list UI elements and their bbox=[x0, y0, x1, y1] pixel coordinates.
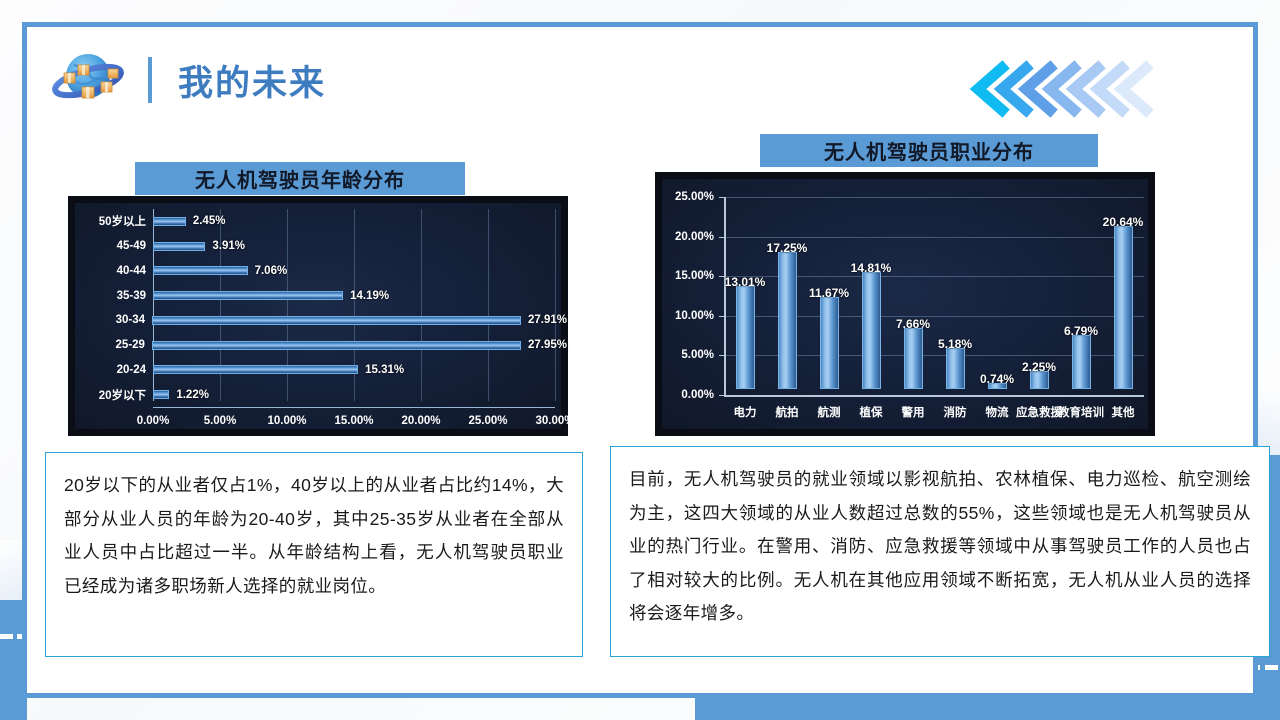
x-axis-line bbox=[724, 395, 1144, 397]
y-axis-line bbox=[724, 197, 726, 395]
x-axis-tick-label: 20.00% bbox=[401, 415, 440, 427]
job-analysis-textbox: 目前，无人机驾驶员的就业领域以影视航拍、农林植保、电力巡检、航空测绘为主，这四大… bbox=[610, 446, 1270, 657]
bar-column bbox=[945, 348, 965, 389]
age-chart-title-banner: 无人机驾驶员年龄分布 bbox=[135, 162, 465, 195]
bar-column bbox=[861, 272, 881, 389]
x-axis-tick-label: 15.00% bbox=[334, 415, 373, 427]
bar-value-label: 2.25% bbox=[1022, 360, 1056, 374]
bar bbox=[153, 291, 343, 300]
bar-row: 50岁以上2.45% bbox=[75, 209, 567, 234]
age-chart-plot-area: 0.00%5.00%10.00%15.00%20.00%25.00%30.00%… bbox=[75, 203, 561, 429]
category-label: 40-44 bbox=[75, 265, 153, 277]
x-axis-line bbox=[153, 407, 555, 408]
bar bbox=[904, 328, 923, 389]
x-axis-category-label: 电力 bbox=[734, 404, 757, 420]
bar-column bbox=[819, 297, 839, 389]
bar-row: 45-493.91% bbox=[75, 234, 567, 259]
x-axis-category-label: 警用 bbox=[902, 404, 925, 420]
category-label: 25-29 bbox=[75, 339, 152, 351]
slide-header: 我的未来 bbox=[52, 42, 326, 118]
x-axis-category-label: 消防 bbox=[944, 404, 967, 420]
bar-row: 20-2415.31% bbox=[75, 358, 567, 383]
bar-column bbox=[735, 286, 755, 389]
bar-row: 35-3914.19% bbox=[75, 283, 567, 308]
job-distribution-chart: 0.00%5.00%10.00%15.00%20.00%25.00%13.01%… bbox=[655, 172, 1155, 436]
bar-value-label: 6.79% bbox=[1064, 324, 1098, 338]
x-axis-category-label: 航拍 bbox=[776, 404, 799, 420]
y-axis-tick-label: 20.00% bbox=[662, 231, 714, 243]
category-label: 20岁以下 bbox=[75, 387, 153, 403]
bar-row: 20岁以下1.22% bbox=[75, 382, 567, 407]
job-chart-plot-area: 0.00%5.00%10.00%15.00%20.00%25.00%13.01%… bbox=[662, 179, 1148, 429]
bar-value-label: 20.64% bbox=[1103, 215, 1144, 229]
bar-value-label: 27.95% bbox=[528, 339, 567, 351]
gridline bbox=[724, 237, 1144, 238]
y-axis-tick-label: 15.00% bbox=[662, 270, 714, 282]
bar bbox=[152, 341, 521, 350]
x-axis-tick-label: 0.00% bbox=[137, 415, 170, 427]
x-axis-category-label: 航测 bbox=[818, 404, 841, 420]
bar-value-label: 7.66% bbox=[896, 317, 930, 331]
bar bbox=[1114, 226, 1133, 389]
x-axis-tick-label: 10.00% bbox=[267, 415, 306, 427]
bar bbox=[153, 217, 186, 226]
category-label: 30-34 bbox=[75, 314, 152, 326]
title-divider-icon bbox=[148, 57, 152, 103]
bar bbox=[946, 348, 965, 389]
bar bbox=[153, 365, 358, 374]
bar-value-label: 5.18% bbox=[938, 337, 972, 351]
slide-canvas: 我的未来 无人机驾驶员年龄分布 0.00%5.00%10.00%15.00%20… bbox=[0, 0, 1280, 720]
category-label: 45-49 bbox=[75, 240, 153, 252]
bar-value-label: 15.31% bbox=[365, 364, 404, 376]
bar-column bbox=[903, 328, 923, 389]
bar-value-label: 14.19% bbox=[350, 290, 389, 302]
x-axis-category-label: 应急救援 bbox=[1016, 404, 1062, 420]
age-distribution-chart: 0.00%5.00%10.00%15.00%20.00%25.00%30.00%… bbox=[68, 196, 568, 436]
bar bbox=[153, 242, 205, 251]
x-axis-tick-label: 25.00% bbox=[468, 415, 507, 427]
y-axis-tick-label: 25.00% bbox=[662, 191, 714, 203]
bar-column bbox=[1113, 226, 1133, 389]
x-axis-category-label: 其他 bbox=[1112, 404, 1135, 420]
bar-value-label: 17.25% bbox=[767, 241, 808, 255]
bar bbox=[778, 252, 797, 389]
gridline bbox=[724, 197, 1144, 198]
page-title: 我的未来 bbox=[178, 55, 326, 106]
bar-value-label: 7.06% bbox=[255, 265, 288, 277]
bar bbox=[153, 266, 248, 275]
bar-row: 30-3427.91% bbox=[75, 308, 567, 333]
x-axis-category-label: 植保 bbox=[860, 404, 883, 420]
y-axis-tick-label: 5.00% bbox=[662, 349, 714, 361]
chevron-left-decoration-icon bbox=[968, 60, 1168, 118]
x-axis-tick-label: 30.00% bbox=[535, 415, 574, 427]
bar bbox=[153, 390, 169, 399]
job-chart-title-banner: 无人机驾驶员职业分布 bbox=[760, 134, 1098, 167]
bar-value-label: 2.45% bbox=[193, 215, 226, 227]
category-label: 50岁以上 bbox=[75, 213, 153, 229]
bar bbox=[862, 272, 881, 389]
bar-value-label: 13.01% bbox=[725, 275, 766, 289]
bar-value-label: 1.22% bbox=[176, 389, 209, 401]
bar-row: 40-447.06% bbox=[75, 259, 567, 284]
x-axis-category-label: 教育培训 bbox=[1058, 404, 1104, 420]
bar-value-label: 27.91% bbox=[528, 314, 567, 326]
y-axis-tick-label: 10.00% bbox=[662, 310, 714, 322]
x-axis-tick-label: 5.00% bbox=[204, 415, 237, 427]
category-label: 20-24 bbox=[75, 364, 153, 376]
bar bbox=[736, 286, 755, 389]
bar-value-label: 0.74% bbox=[980, 372, 1014, 386]
bar bbox=[1072, 335, 1091, 389]
x-axis-category-label: 物流 bbox=[986, 404, 1009, 420]
bar-column bbox=[1071, 335, 1091, 389]
bar-value-label: 11.67% bbox=[809, 286, 849, 300]
category-label: 35-39 bbox=[75, 290, 153, 302]
age-analysis-textbox: 20岁以下的从业者仅占1%，40岁以上的从业者占比约14%，大部分从业人员的年龄… bbox=[45, 452, 583, 657]
y-axis-tick-label: 0.00% bbox=[662, 389, 714, 401]
bar-column bbox=[777, 252, 797, 389]
bar-value-label: 3.91% bbox=[212, 240, 245, 252]
bar bbox=[152, 316, 521, 325]
bar-row: 25-2927.95% bbox=[75, 333, 567, 358]
bar-value-label: 14.81% bbox=[851, 261, 892, 275]
globe-packages-logo-icon bbox=[52, 47, 126, 113]
bar bbox=[820, 297, 839, 389]
